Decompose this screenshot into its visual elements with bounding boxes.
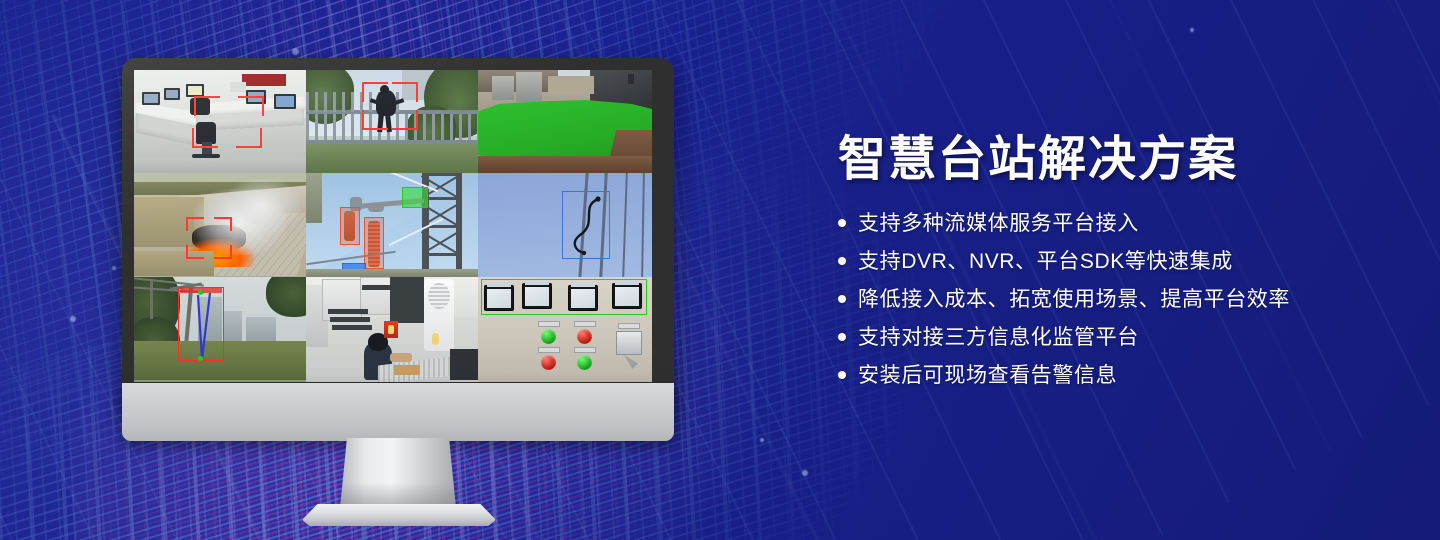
bullet-dot-icon	[838, 371, 846, 379]
monitor-chin	[122, 383, 674, 441]
feed-office-control-room[interactable]	[134, 70, 306, 173]
feed-leaning-pole[interactable]	[134, 277, 306, 382]
monitor	[122, 58, 674, 490]
bullet-dot-icon	[838, 219, 846, 227]
list-item-label: 支持多种流媒体服务平台接入	[858, 213, 1139, 234]
feed-field-fire[interactable]	[134, 173, 306, 277]
feed-server-room[interactable]	[306, 277, 478, 382]
bullet-dot-icon	[838, 257, 846, 265]
bullet-dot-icon	[838, 333, 846, 341]
list-item: 降低接入成本、拓宽使用场景、提高平台效率	[838, 289, 1398, 310]
bullet-dot-icon	[838, 295, 846, 303]
monitor-bezel	[122, 58, 674, 413]
feed-transmission-tower[interactable]	[306, 173, 478, 277]
list-item: 支持对接三方信息化监管平台	[838, 327, 1398, 348]
feed-control-panel[interactable]	[478, 277, 652, 382]
list-item: 安装后可现场查看告警信息	[838, 365, 1398, 386]
feature-list: 支持多种流媒体服务平台接入 支持DVR、NVR、平台SDK等快速集成 降低接入成…	[838, 213, 1398, 386]
list-item-label: 支持DVR、NVR、平台SDK等快速集成	[858, 251, 1233, 272]
page-title: 智慧台站解决方案	[838, 132, 1398, 189]
video-wall-grid	[134, 70, 652, 382]
list-item-label: 降低接入成本、拓宽使用场景、提高平台效率	[858, 289, 1290, 310]
feed-green-zone-yard[interactable]	[478, 70, 652, 173]
feed-fence-intrusion[interactable]	[306, 70, 478, 173]
banner-root: 智慧台站解决方案 支持多种流媒体服务平台接入 支持DVR、NVR、平台SDK等快…	[0, 0, 1440, 540]
content-block: 智慧台站解决方案 支持多种流媒体服务平台接入 支持DVR、NVR、平台SDK等快…	[838, 132, 1398, 386]
list-item-label: 支持对接三方信息化监管平台	[858, 327, 1139, 348]
monitor-stand-base	[302, 504, 496, 526]
list-item: 支持DVR、NVR、平台SDK等快速集成	[838, 251, 1398, 272]
monitor-stand-neck	[340, 438, 456, 508]
tilt-angle-overlay	[176, 287, 228, 365]
list-item-label: 安装后可现场查看告警信息	[858, 365, 1117, 386]
list-item: 支持多种流媒体服务平台接入	[838, 213, 1398, 234]
feed-overhead-wire[interactable]	[478, 173, 652, 277]
